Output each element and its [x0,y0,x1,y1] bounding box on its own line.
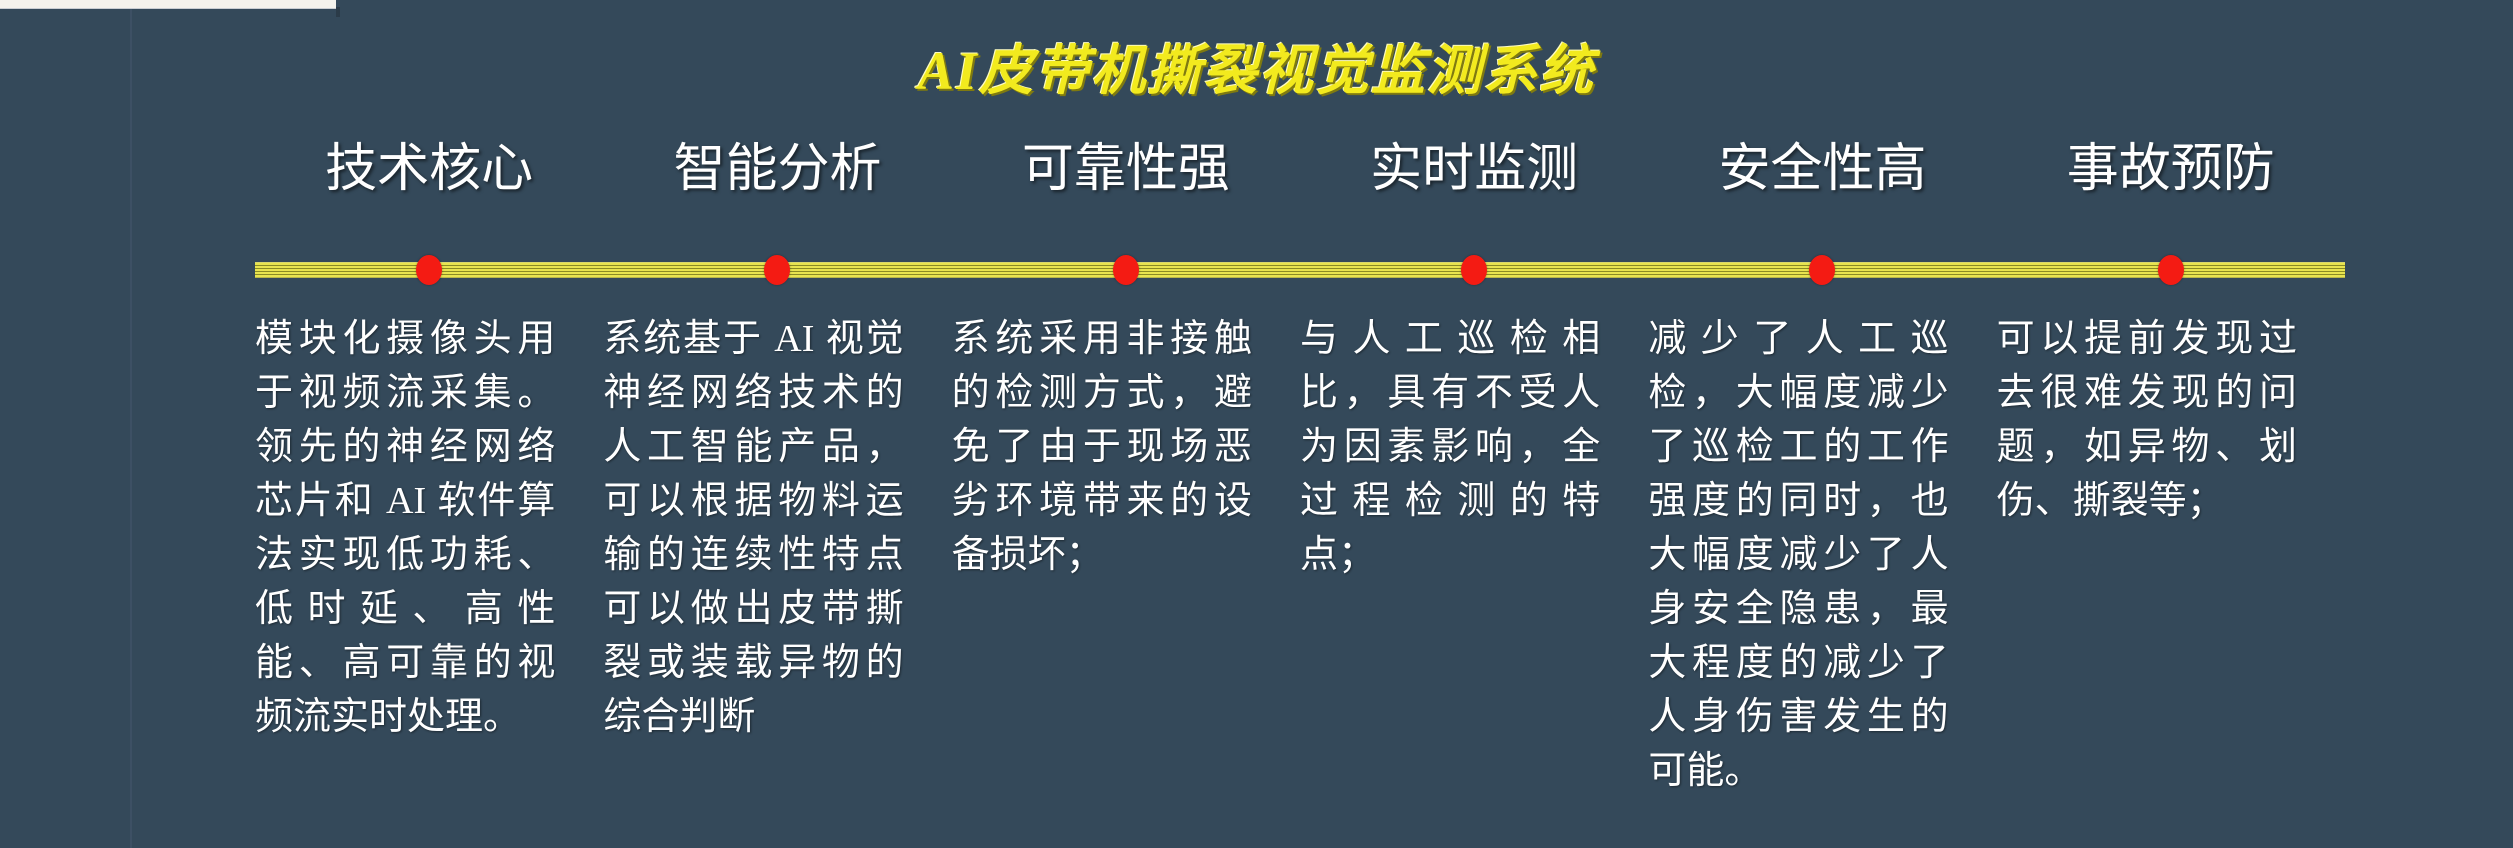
content-column: 系统采用非接触的检测方式，避免了由于现场恶劣环境带来的设备损坏； [952,312,1300,798]
timeline-dot-cell [952,262,1300,278]
page-title: AI皮带机撕裂视觉监测系统 [0,26,2513,105]
column-heading: 智能分析 [603,140,951,200]
timeline-dot-icon [764,255,790,285]
column-body-text: 系统基于 AI 视觉神经网络技术的人工智能产品，可以根据物料运输的连续性特点可以… [603,312,903,744]
column-body-text: 减少了人工巡检，大幅度减少了巡检工的工作强度的同时，也大幅度减少了人身安全隐患，… [1648,312,1948,798]
vertical-guide-line [130,9,132,848]
slide-canvas: AI皮带机撕裂视觉监测系统 技术核心 智能分析 可靠性强 实时监测 安全性高 事… [0,0,2513,848]
content-column: 可以提前发现过去很难发现的问题，如异物、划伤、撕裂等； [1997,312,2345,798]
timeline-dot-icon [416,255,442,285]
timeline-dot-cell [1997,262,2345,278]
heading-row: 技术核心 智能分析 可靠性强 实时监测 安全性高 事故预防 [255,140,2345,200]
column-body-text: 可以提前发现过去很难发现的问题，如异物、划伤、撕裂等； [1997,312,2297,528]
timeline-dot-icon [1809,255,1835,285]
column-heading: 技术核心 [255,140,603,200]
content-column: 系统基于 AI 视觉神经网络技术的人工智能产品，可以根据物料运输的连续性特点可以… [603,312,951,798]
timeline [255,262,2345,278]
column-body-text: 系统采用非接触的检测方式，避免了由于现场恶劣环境带来的设备损坏； [952,312,1252,582]
top-strip-shadow [336,7,340,17]
column-heading: 事故预防 [1997,140,2345,200]
timeline-dot-cell [603,262,951,278]
column-heading: 可靠性强 [952,140,1300,200]
timeline-dot-cell [1648,262,1996,278]
timeline-dot-cell [1300,262,1648,278]
content-column: 模块化摄像头用于视频流采集。领先的神经网络芯片和 AI 软件算法实现低功耗、低时… [255,312,603,798]
column-heading: 安全性高 [1648,140,1996,200]
column-body-text: 与人工巡检相比，具有不受人为因素影响，全过程检测的特点； [1300,312,1600,582]
content-column: 与人工巡检相比，具有不受人为因素影响，全过程检测的特点； [1300,312,1648,798]
timeline-dot-cell [255,262,603,278]
content-column: 减少了人工巡检，大幅度减少了巡检工的工作强度的同时，也大幅度减少了人身安全隐患，… [1648,312,1996,798]
timeline-dot-icon [1461,255,1487,285]
column-body-text: 模块化摄像头用于视频流采集。领先的神经网络芯片和 AI 软件算法实现低功耗、低时… [255,312,555,744]
content-columns: 模块化摄像头用于视频流采集。领先的神经网络芯片和 AI 软件算法实现低功耗、低时… [255,312,2345,798]
timeline-dot-row [255,262,2345,278]
column-heading: 实时监测 [1300,140,1648,200]
timeline-dot-icon [2158,255,2184,285]
timeline-dot-icon [1113,255,1139,285]
top-white-strip [0,0,336,9]
